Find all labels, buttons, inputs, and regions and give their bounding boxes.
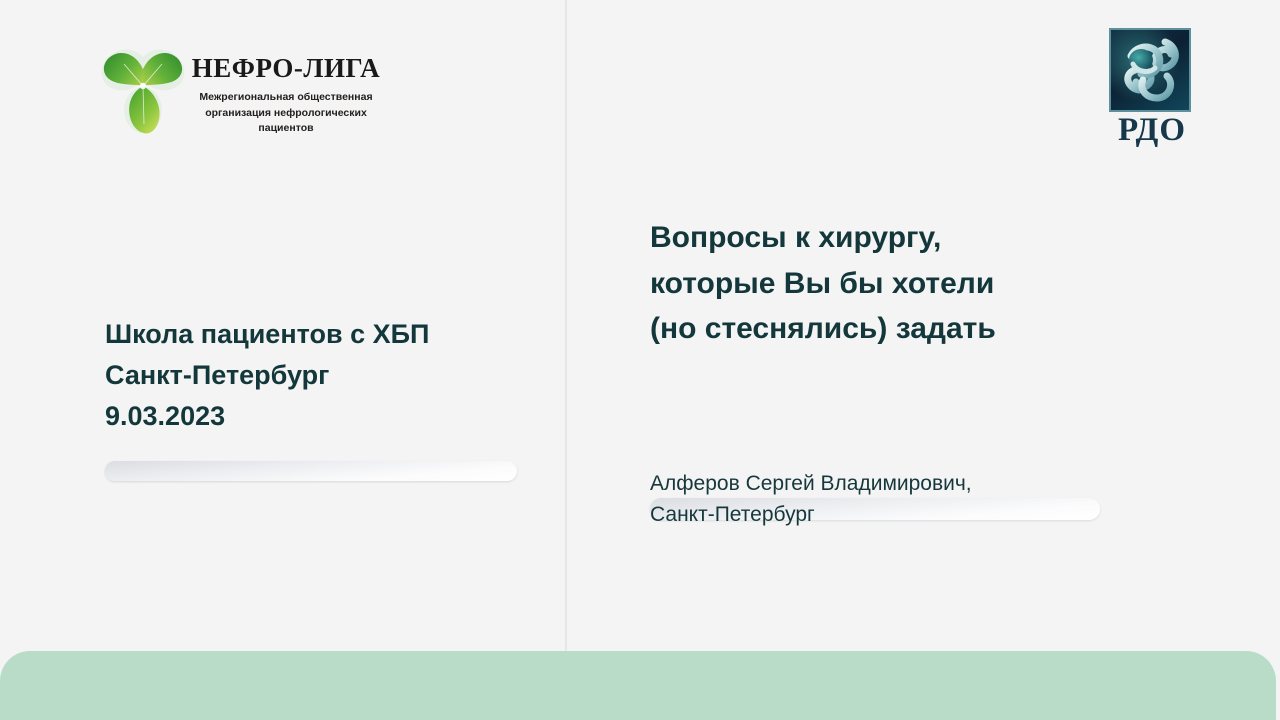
- intertwined-ribbon-icon: [1109, 28, 1191, 112]
- rdo-label: РДО: [1106, 114, 1198, 147]
- nefro-liga-text: НЕФРО-ЛИГА Межрегиональная общественная …: [188, 40, 384, 136]
- column-divider: [565, 0, 567, 651]
- author-name: Алферов Сергей Владимирович, Санкт-Петер…: [650, 468, 1110, 530]
- nefro-liga-subtitle: Межрегиональная общественная организация…: [188, 90, 384, 136]
- left-column: Школа пациентов с ХБП Санкт-Петербург 9.…: [105, 314, 535, 437]
- clover-leaf-icon: [100, 42, 186, 140]
- bottom-accent-band: [0, 651, 1276, 720]
- slide-title: Вопросы к хирургу, которые Вы бы хотели …: [650, 215, 1090, 352]
- presentation-slide: НЕФРО-ЛИГА Межрегиональная общественная …: [0, 0, 1280, 720]
- rdo-logo: РДО: [1106, 28, 1198, 156]
- decorative-pill-left: [105, 461, 517, 481]
- nefro-liga-wordmark: НЕФРО-ЛИГА: [188, 52, 384, 84]
- nefro-liga-logo: НЕФРО-ЛИГА Межрегиональная общественная …: [100, 40, 380, 160]
- event-heading: Школа пациентов с ХБП Санкт-Петербург 9.…: [105, 314, 535, 437]
